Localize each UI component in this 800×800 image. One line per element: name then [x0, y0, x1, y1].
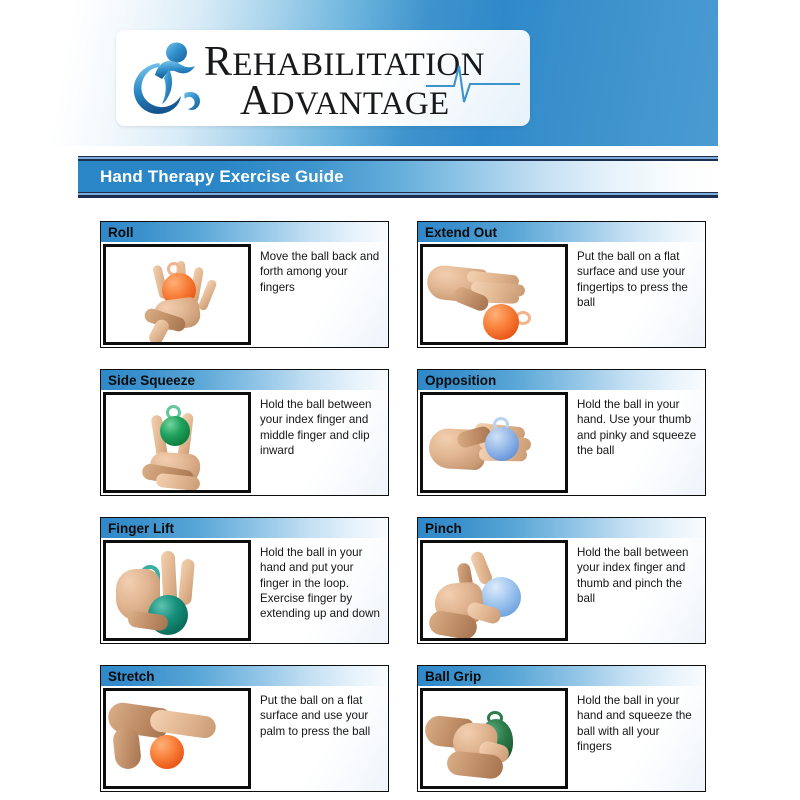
- exercise-body: Hold the ball in your hand. Use your thu…: [417, 390, 706, 496]
- exercise-row: Side Squeeze: [100, 369, 706, 496]
- exercise-description: Hold the ball in your hand. Use your thu…: [577, 397, 697, 458]
- exercise-description: Put the ball on a flat surface and use y…: [577, 249, 697, 310]
- exercise-description: Hold the ball in your hand and put your …: [260, 545, 380, 621]
- exercise-description: Move the ball back and forth among your …: [260, 249, 380, 295]
- exercise-photo-finger-lift: [103, 540, 251, 641]
- exercise-card-ball-grip[interactable]: Ball Grip Hold the ba: [417, 665, 706, 792]
- exercise-title: Opposition: [425, 373, 496, 388]
- exercise-body: Put the ball on a flat surface and use y…: [417, 242, 706, 348]
- exercise-grid: Roll: [100, 221, 706, 792]
- exercise-photo-extend-out: [420, 244, 568, 345]
- wheelchair-person-icon: [129, 39, 203, 119]
- exercise-description-panel: Hold the ball in your hand and put your …: [251, 538, 388, 643]
- exercise-description-panel: Hold the ball between your index finger …: [568, 538, 705, 643]
- exercise-row: Finger Lift Hold the: [100, 517, 706, 644]
- exercise-description: Hold the ball in your hand and squeeze t…: [577, 693, 697, 754]
- exercise-title: Extend Out: [425, 225, 497, 240]
- ekg-pulse-icon: [426, 60, 520, 108]
- exercise-card-opposition[interactable]: Opposition: [417, 369, 706, 496]
- exercise-photo-side-squeeze: [103, 392, 251, 493]
- exercise-title: Roll: [108, 225, 134, 240]
- exercise-label-band: Ball Grip: [417, 665, 706, 686]
- page-title: Hand Therapy Exercise Guide: [100, 167, 344, 187]
- exercise-title: Ball Grip: [425, 669, 481, 684]
- exercise-photo-opposition: [420, 392, 568, 493]
- exercise-row: Stretch Put the ball on a flat surface a…: [100, 665, 706, 792]
- exercise-body: Hold the ball between your index finger …: [417, 538, 706, 644]
- brand-banner: REHABILITATION ADVANTAGE: [0, 0, 718, 146]
- exercise-photo-stretch: [103, 688, 251, 789]
- exercise-description-panel: Move the ball back and forth among your …: [251, 242, 388, 347]
- exercise-card-finger-lift[interactable]: Finger Lift Hold the: [100, 517, 389, 644]
- exercise-body: Hold the ball in your hand and put your …: [100, 538, 389, 644]
- exercise-label-band: Side Squeeze: [100, 369, 389, 390]
- exercise-label-band: Stretch: [100, 665, 389, 686]
- exercise-label-band: Pinch: [417, 517, 706, 538]
- exercise-card-pinch[interactable]: Pinch Hold the ball b: [417, 517, 706, 644]
- exercise-description-panel: Hold the ball in your hand and squeeze t…: [568, 686, 705, 791]
- exercise-description-panel: Put the ball on a flat surface and use y…: [251, 686, 388, 791]
- exercise-label-band: Roll: [100, 221, 389, 242]
- section-title-bar: Hand Therapy Exercise Guide: [78, 156, 718, 198]
- title-bar-body: Hand Therapy Exercise Guide: [78, 161, 718, 193]
- exercise-body: Hold the ball between your index finger …: [100, 390, 389, 496]
- exercise-body: Hold the ball in your hand and squeeze t…: [417, 686, 706, 792]
- exercise-title: Side Squeeze: [108, 373, 195, 388]
- brand-line-2: ADVANTAGE: [240, 80, 449, 122]
- exercise-card-extend-out[interactable]: Extend Out: [417, 221, 706, 348]
- exercise-body: Put the ball on a flat surface and use y…: [100, 686, 389, 792]
- exercise-title: Pinch: [425, 521, 462, 536]
- title-rule-bottom: [78, 192, 718, 198]
- logo-card: REHABILITATION ADVANTAGE: [116, 30, 530, 126]
- exercise-description: Hold the ball between your index finger …: [260, 397, 380, 458]
- exercise-card-stretch[interactable]: Stretch Put the ball on a flat surface a…: [100, 665, 389, 792]
- exercise-row: Roll: [100, 221, 706, 348]
- exercise-description: Hold the ball between your index finger …: [577, 545, 697, 606]
- exercise-body: Move the ball back and forth among your …: [100, 242, 389, 348]
- exercise-label-band: Finger Lift: [100, 517, 389, 538]
- exercise-description-panel: Put the ball on a flat surface and use y…: [568, 242, 705, 347]
- exercise-label-band: Opposition: [417, 369, 706, 390]
- brand-wordmark: REHABILITATION ADVANTAGE: [204, 38, 522, 120]
- exercise-photo-ball-grip: [420, 688, 568, 789]
- exercise-title: Stretch: [108, 669, 155, 684]
- exercise-label-band: Extend Out: [417, 221, 706, 242]
- exercise-photo-roll: [103, 244, 251, 345]
- exercise-card-roll[interactable]: Roll: [100, 221, 389, 348]
- exercise-photo-pinch: [420, 540, 568, 641]
- exercise-guide-page: REHABILITATION ADVANTAGE Hand Therapy Ex…: [0, 0, 800, 800]
- exercise-title: Finger Lift: [108, 521, 174, 536]
- exercise-card-side-squeeze[interactable]: Side Squeeze: [100, 369, 389, 496]
- exercise-description: Put the ball on a flat surface and use y…: [260, 693, 380, 739]
- exercise-description-panel: Hold the ball between your index finger …: [251, 390, 388, 495]
- exercise-description-panel: Hold the ball in your hand. Use your thu…: [568, 390, 705, 495]
